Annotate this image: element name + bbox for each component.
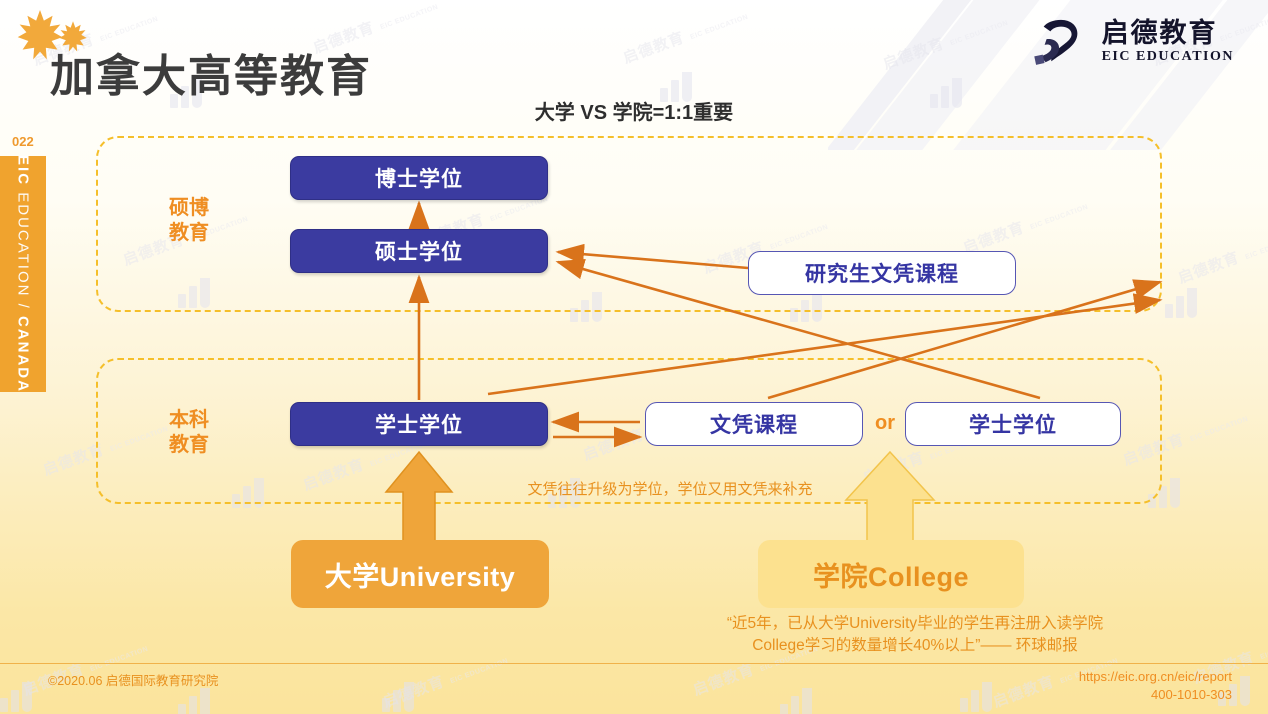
watermark-text-en: EIC EDUCATION	[379, 4, 439, 32]
sidebar-index-bar: EIC EDUCATION / CANADA	[0, 156, 46, 392]
watermark-text-en: EIC EDUCATION	[89, 646, 149, 674]
footer-url[interactable]: https://eic.org.cn/eic/report	[1079, 668, 1232, 686]
node-bachelor-degree-college[interactable]: 学士学位	[905, 402, 1121, 446]
watermark-text: 启德教育	[621, 29, 687, 67]
footer-copyright: ©2020.06 启德国际教育研究院	[48, 670, 218, 689]
logo-text-cn: 启德教育	[1102, 20, 1234, 47]
watermark-text: 启德教育	[691, 661, 757, 699]
region-undergraduate-label: 本科 教育	[152, 408, 226, 458]
eic-logo-mark-icon	[1032, 16, 1090, 68]
node-bachelor-degree[interactable]: 学士学位	[290, 402, 548, 446]
watermark-text-en: EIC EDUCATION	[449, 658, 509, 686]
sidebar-label-eic: EIC	[15, 155, 32, 192]
watermark-text-en: EIC EDUCATION	[689, 14, 749, 42]
watermark-text-en: EIC EDUCATION	[99, 16, 159, 44]
sidebar-index-label: EIC EDUCATION / CANADA	[15, 155, 32, 393]
footer-contact: https://eic.org.cn/eic/report 400-1010-3…	[1079, 668, 1232, 704]
sidebar-label-canada: CANADA	[15, 316, 32, 393]
quote-line-1: “近5年，已从大学University毕业的学生再注册入读学院	[650, 613, 1180, 635]
diagram-caption: 文凭往往升级为学位，学位又用文凭来补充	[470, 478, 870, 499]
watermark-text: 启德教育	[1176, 249, 1242, 287]
watermark-text: 启德教育	[381, 673, 447, 711]
page-title: 加拿大高等教育	[50, 40, 372, 104]
quote-block: “近5年，已从大学University毕业的学生再注册入读学院 College学…	[650, 613, 1180, 658]
region-graduate-label: 硕博 教育	[152, 196, 226, 246]
node-phd-degree[interactable]: 博士学位	[290, 156, 548, 200]
slide-canvas: 启德教育EIC EDUCATION 启德教育EIC EDUCATION 启德教育…	[0, 0, 1268, 714]
node-master-degree[interactable]: 硕士学位	[290, 229, 548, 273]
sidebar-label-education: EDUCATION /	[15, 192, 32, 316]
node-diploma-program[interactable]: 文凭课程	[645, 402, 863, 446]
node-postgraduate-diploma[interactable]: 研究生文凭课程	[748, 251, 1016, 295]
watermark-text-en: EIC EDUCATION	[1244, 234, 1268, 262]
logo-text-en: EIC EDUCATION	[1102, 50, 1234, 64]
or-separator-label: or	[866, 412, 904, 435]
page-number: 022	[12, 134, 34, 149]
node-university[interactable]: 大学University	[291, 540, 549, 608]
brand-logo: 启德教育 EIC EDUCATION	[1032, 16, 1234, 68]
footer-divider	[0, 663, 1268, 664]
watermark-text-en: EIC EDUCATION	[1189, 416, 1249, 444]
footer-phone: 400-1010-303	[1079, 686, 1232, 704]
diagram-subtitle: 大学 VS 学院=1:1重要	[0, 96, 1268, 125]
watermark-text-en: EIC EDUCATION	[1259, 634, 1268, 662]
quote-line-2: College学习的数量增长40%以上”—— 环球邮报	[650, 635, 1180, 657]
watermark-text: 启德教育	[991, 673, 1057, 711]
node-college[interactable]: 学院College	[758, 540, 1024, 608]
